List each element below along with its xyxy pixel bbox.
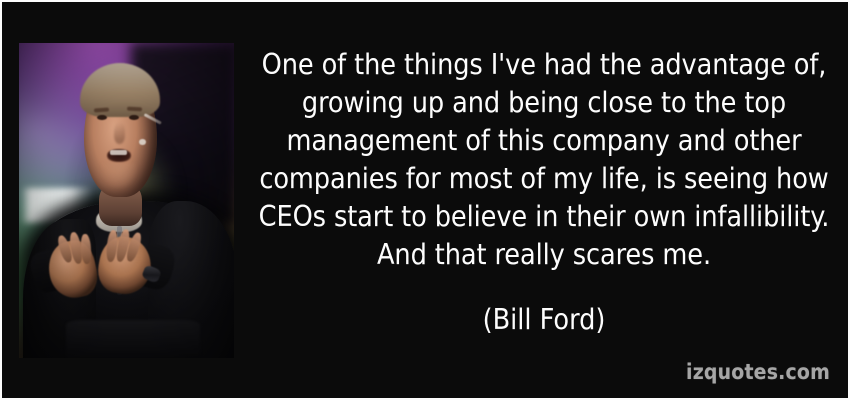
quote-text: One of the things I've had the advantage… xyxy=(250,46,838,274)
quote-block: One of the things I've had the advantage… xyxy=(250,46,838,274)
quote-card: One of the things I've had the advantage… xyxy=(0,0,850,400)
speaker-photo xyxy=(19,43,234,358)
watermark: izquotes.com xyxy=(686,360,830,384)
quote-attribution: (Bill Ford) xyxy=(250,301,838,339)
photo-vignette xyxy=(19,43,234,358)
